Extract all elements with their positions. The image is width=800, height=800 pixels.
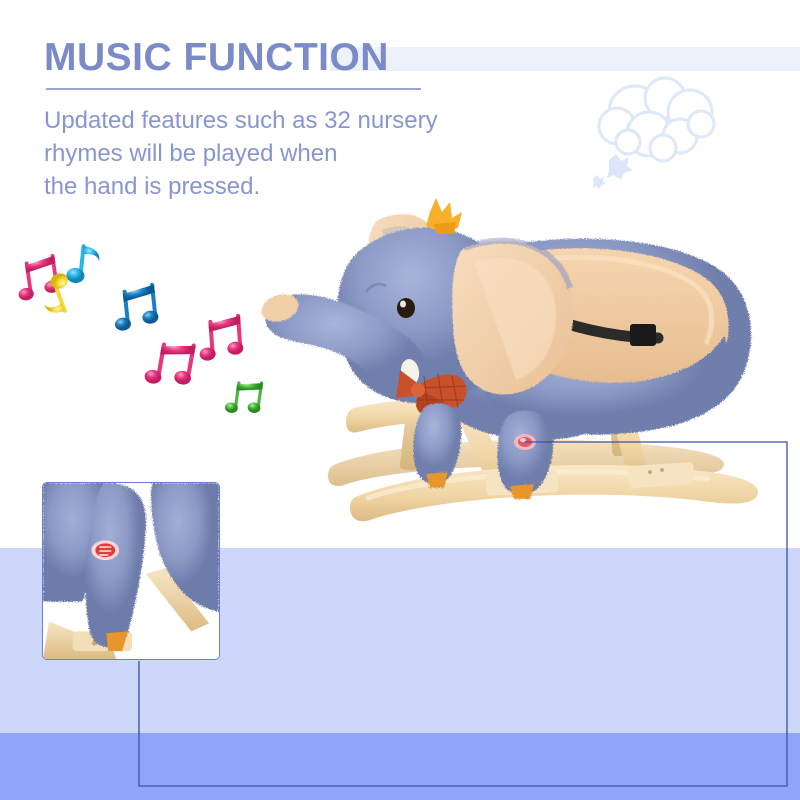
music-note-cyan <box>66 245 101 286</box>
title-underline <box>46 88 421 90</box>
background-band-dark <box>0 733 800 800</box>
music-button-tag[interactable] <box>514 434 536 450</box>
music-note-blue <box>111 285 159 332</box>
music-note-pink-3 <box>197 316 244 361</box>
closeup-inset-photo <box>42 482 220 660</box>
marketing-banner: MUSIC FUNCTION Updated features such as … <box>0 0 800 800</box>
page-title: MUSIC FUNCTION <box>44 38 389 77</box>
music-notes-group <box>0 230 300 430</box>
music-note-pink-2 <box>144 338 197 390</box>
page-subtitle: Updated features such as 32 nursery rhym… <box>44 104 524 203</box>
thought-cloud-icon <box>565 62 755 192</box>
product-photo-elephant-rocker <box>258 196 778 566</box>
inset-music-button-tag <box>91 540 119 560</box>
